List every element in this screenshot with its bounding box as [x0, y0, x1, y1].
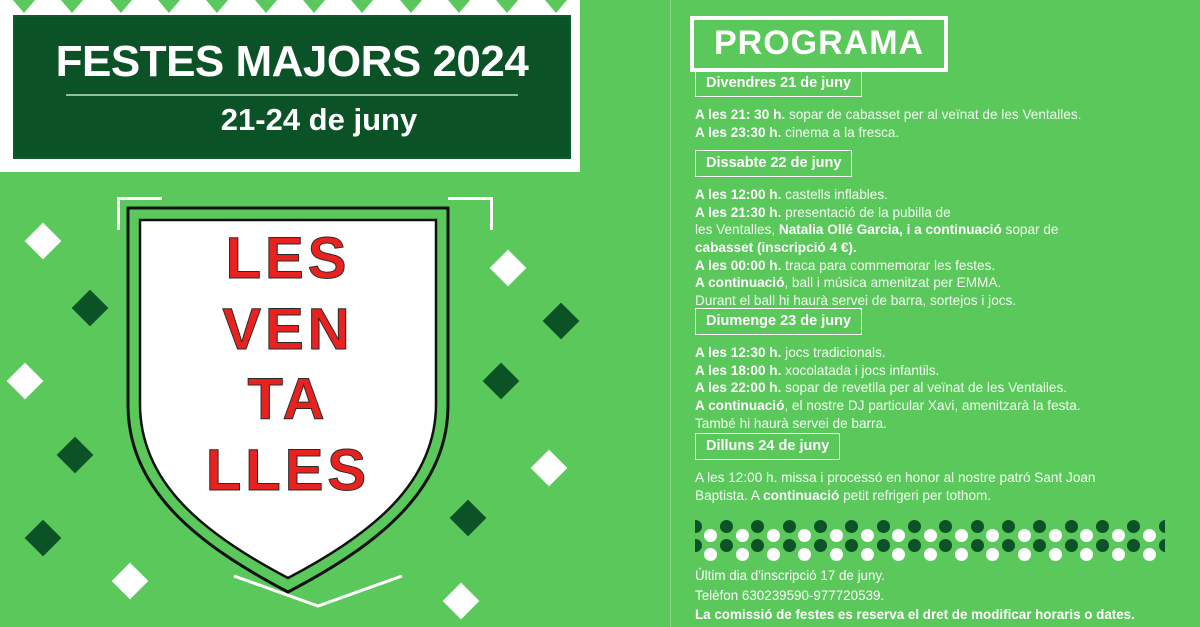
- event-text-strong: A continuació: [695, 275, 784, 290]
- pattern-dot-light: [861, 529, 874, 542]
- scallop-notch-icon: [400, 0, 422, 13]
- scallop-notch-icon: [303, 0, 325, 13]
- event-text: , el nostre DJ particular Xavi, amenitza…: [784, 398, 1080, 413]
- program-day-block: Divendres 21 de junyA les 21: 30 h. sopa…: [695, 70, 1165, 141]
- pattern-dot-dark: [783, 520, 796, 533]
- event-text: Baptista. A: [695, 488, 763, 503]
- event-text: sopar de cabasset per al veïnat de les V…: [785, 107, 1081, 122]
- pattern-dot-dark: [1002, 520, 1015, 533]
- event-line: A continuació, ball i música amenitzat p…: [695, 274, 1165, 292]
- event-text-strong: A les 12:00 h.: [695, 187, 781, 202]
- pattern-dot-dark: [814, 520, 827, 533]
- event-text-strong: A les 22:00 h.: [695, 380, 781, 395]
- footer-line: La comissió de festes es reserva el dret…: [695, 605, 1175, 625]
- pattern-dot-dark: [1033, 520, 1046, 533]
- scallop-notch-icon: [158, 0, 180, 13]
- pattern-dot-light: [736, 529, 749, 542]
- pattern-dot-light: [1143, 548, 1156, 561]
- event-line: les Ventalles, Natalia Ollé Garcia, i a …: [695, 221, 1165, 239]
- pattern-dot-light: [924, 529, 937, 542]
- pattern-dot-light: [798, 548, 811, 561]
- pattern-dot-light: [955, 548, 968, 561]
- event-text: cinema a la fresca.: [781, 125, 899, 140]
- crest-letters: LES VEN TA LLES: [118, 200, 458, 600]
- right-panel: PROGRAMA Divendres 21 de junyA les 21: 3…: [671, 0, 1200, 627]
- pattern-dot-dark: [845, 539, 858, 552]
- pattern-dot-light: [767, 529, 780, 542]
- event-text: castells inflables.: [781, 187, 888, 202]
- pattern-dot-dark: [908, 520, 921, 533]
- pattern-dot-dark: [814, 539, 827, 552]
- footer-notes: Últim dia d'inscripció 17 de juny.Telèfo…: [695, 566, 1175, 625]
- pattern-dot-light: [704, 529, 717, 542]
- pattern-dot-dark: [877, 520, 890, 533]
- pattern-dot-dark: [1159, 539, 1166, 552]
- festival-poster: FESTES MAJORS 2024 21-24 de juny LES VEN…: [0, 0, 1200, 627]
- pattern-dot-light: [861, 548, 874, 561]
- pattern-dot-light: [704, 548, 717, 561]
- crest-line-4: LLES: [206, 440, 370, 503]
- event-text-strong: cabasset (inscripció 4 €).: [695, 240, 857, 255]
- scallop-notch-icon: [496, 0, 518, 13]
- event-line: També hi haurà servei de barra.: [695, 415, 1165, 433]
- scallop-notch-icon: [110, 0, 132, 13]
- scallop-notch-icon: [545, 0, 567, 13]
- day-chip: Diumenge 23 de juny: [695, 308, 862, 335]
- day-chip: Dilluns 24 de juny: [695, 433, 840, 460]
- pattern-dot-light: [767, 548, 780, 561]
- diamond-decoration-icon: [25, 223, 62, 260]
- footer-line: Telèfon 630239590-977720539.: [695, 586, 1175, 606]
- scallop-notch-icon: [13, 0, 35, 13]
- event-line: A les 00:00 h. traca para commemorar les…: [695, 257, 1165, 275]
- page-title: FESTES MAJORS 2024: [56, 40, 529, 84]
- diamond-decoration-icon: [483, 363, 520, 400]
- chevron-accent-icon: [228, 572, 408, 612]
- event-text-strong: Natalia Ollé Garcia, i a continuació: [779, 222, 1002, 237]
- scallop-notch-icon: [255, 0, 277, 13]
- diamond-decoration-icon: [25, 520, 62, 557]
- pattern-dot-dark: [751, 520, 764, 533]
- event-text: sopar de revetlla per al veïnat de les V…: [781, 380, 1067, 395]
- diamond-decoration-icon: [7, 363, 44, 400]
- event-text-strong: A les 18:00 h.: [695, 363, 781, 378]
- event-text-strong: continuació: [763, 488, 839, 503]
- diamond-decoration-icon: [72, 290, 109, 327]
- programa-heading-box: PROGRAMA: [690, 16, 948, 72]
- scallop-notch-icon: [206, 0, 228, 13]
- diamond-decoration-icon: [531, 450, 568, 487]
- day-event-lines: A les 12:30 h. jocs tradicionals.A les 1…: [695, 344, 1165, 432]
- event-text-strong: A les 21: 30 h.: [695, 107, 785, 122]
- day-chip: Dissabte 22 de juny: [695, 150, 852, 177]
- event-text: sopar de: [1002, 222, 1059, 237]
- pattern-dot-light: [1080, 548, 1093, 561]
- programa-heading: PROGRAMA: [714, 26, 924, 60]
- day-event-lines: A les 21: 30 h. sopar de cabasset per al…: [695, 106, 1165, 141]
- pattern-dot-dark: [845, 520, 858, 533]
- event-text: xocolatada i jocs infantils.: [781, 363, 939, 378]
- pattern-dot-light: [924, 548, 937, 561]
- program-day-block: Dilluns 24 de junyA les 12:00 h. missa i…: [695, 433, 1165, 504]
- header-white-band: FESTES MAJORS 2024 21-24 de juny: [0, 0, 580, 172]
- pattern-dot-light: [986, 529, 999, 542]
- title-divider-rule: [66, 94, 518, 96]
- pattern-dot-dark: [971, 520, 984, 533]
- pattern-dot-dark: [1033, 539, 1046, 552]
- event-text: A les 12:00 h. missa i processó en honor…: [695, 470, 1096, 485]
- event-text-strong: A les 12:30 h.: [695, 345, 781, 360]
- pattern-dot-dark: [1127, 539, 1140, 552]
- event-text-strong: A les 00:00 h.: [695, 258, 781, 273]
- pattern-dot-light: [1018, 529, 1031, 542]
- crest-line-2: VEN: [222, 299, 353, 362]
- pattern-dot-light: [892, 548, 905, 561]
- pattern-dot-light: [892, 529, 905, 542]
- event-text: , ball i música amenitzat per EMMA.: [784, 275, 1001, 290]
- title-banner: FESTES MAJORS 2024 21-24 de juny: [13, 15, 571, 159]
- pattern-dot-light: [830, 548, 843, 561]
- event-text: presentació de la pubilla de: [781, 205, 950, 220]
- title-subtitle: 21-24 de juny: [167, 104, 417, 135]
- event-text: les Ventalles,: [695, 222, 779, 237]
- pattern-dot-dark: [1096, 520, 1109, 533]
- pattern-dot-dark: [877, 539, 890, 552]
- event-text: Durant el ball hi haurà servei de barra,…: [695, 293, 1016, 308]
- scallop-notch-icon: [448, 0, 470, 13]
- pattern-dot-dark: [695, 539, 702, 552]
- pattern-dot-dark: [695, 520, 702, 533]
- event-line: A les 22:00 h. sopar de revetlla per al …: [695, 379, 1165, 397]
- crest-line-3: TA: [247, 369, 328, 432]
- pattern-dot-light: [1112, 548, 1125, 561]
- pattern-dot-dark: [783, 539, 796, 552]
- day-event-lines: A les 12:00 h. castells inflables.A les …: [695, 186, 1165, 310]
- pattern-dot-dark: [971, 539, 984, 552]
- footer-text: Últim dia d'inscripció 17 de juny.: [695, 568, 885, 583]
- event-line: A les 12:00 h. castells inflables.: [695, 186, 1165, 204]
- left-panel: FESTES MAJORS 2024 21-24 de juny LES VEN…: [0, 0, 670, 627]
- pattern-dot-light: [798, 529, 811, 542]
- pattern-dot-light: [1049, 548, 1062, 561]
- event-text: jocs tradicionals.: [781, 345, 885, 360]
- event-line: A les 21: 30 h. sopar de cabasset per al…: [695, 106, 1165, 124]
- event-line: cabasset (inscripció 4 €).: [695, 239, 1165, 257]
- event-text: traca para commemorar les festes.: [781, 258, 995, 273]
- event-line: A les 12:30 h. jocs tradicionals.: [695, 344, 1165, 362]
- day-event-lines: A les 12:00 h. missa i processó en honor…: [695, 469, 1165, 504]
- pattern-dot-light: [955, 529, 968, 542]
- pattern-dot-dark: [908, 539, 921, 552]
- pattern-dot-light: [1143, 529, 1156, 542]
- pattern-dot-light: [830, 529, 843, 542]
- diamond-decoration-icon: [543, 303, 580, 340]
- event-text: petit refrigeri per tothom.: [839, 488, 991, 503]
- pattern-dot-dark: [939, 539, 952, 552]
- pattern-dot-dark: [1065, 539, 1078, 552]
- pattern-dot-dark: [1127, 520, 1140, 533]
- pattern-dot-dark: [720, 539, 733, 552]
- event-text-strong: A les 23:30 h.: [695, 125, 781, 140]
- pattern-dot-light: [1080, 529, 1093, 542]
- event-line: A les 23:30 h. cinema a la fresca.: [695, 124, 1165, 142]
- diamond-decoration-icon: [57, 437, 94, 474]
- pattern-dot-light: [1018, 548, 1031, 561]
- pattern-dot-light: [986, 548, 999, 561]
- pattern-dot-light: [1112, 529, 1125, 542]
- event-line: Baptista. A continuació petit refrigeri …: [695, 487, 1165, 505]
- program-day-block: Dissabte 22 de junyA les 12:00 h. castel…: [695, 150, 1165, 310]
- event-line: A les 12:00 h. missa i processó en honor…: [695, 469, 1165, 487]
- event-line: A continuació, el nostre DJ particular X…: [695, 397, 1165, 415]
- pattern-dot-dark: [1002, 539, 1015, 552]
- pattern-dot-light: [1049, 529, 1062, 542]
- pattern-dot-dark: [939, 520, 952, 533]
- day-chip: Divendres 21 de juny: [695, 70, 862, 97]
- footer-line: Últim dia d'inscripció 17 de juny.: [695, 566, 1175, 586]
- dot-pattern-band: [695, 519, 1165, 563]
- pattern-dot-dark: [751, 539, 764, 552]
- footer-text-strong: La comissió de festes es reserva el dret…: [695, 607, 1135, 622]
- scallop-notch-icon: [351, 0, 373, 13]
- pattern-dot-light: [736, 548, 749, 561]
- crest-shield: LES VEN TA LLES: [118, 200, 458, 600]
- event-text-strong: A les 21:30 h.: [695, 205, 781, 220]
- crest-line-1: LES: [226, 228, 351, 291]
- event-line: A les 21:30 h. presentació de la pubilla…: [695, 204, 1165, 222]
- diamond-decoration-icon: [490, 250, 527, 287]
- pattern-dot-dark: [1096, 539, 1109, 552]
- scallop-notch-icon: [61, 0, 83, 13]
- pattern-dot-dark: [1159, 520, 1166, 533]
- scalloped-notch-row: [0, 0, 580, 13]
- pattern-dot-dark: [1065, 520, 1078, 533]
- event-text: També hi haurà servei de barra.: [695, 416, 887, 431]
- event-text-strong: A continuació: [695, 398, 784, 413]
- event-line: A les 18:00 h. xocolatada i jocs infanti…: [695, 362, 1165, 380]
- program-day-block: Diumenge 23 de junyA les 12:30 h. jocs t…: [695, 308, 1165, 432]
- footer-text: Telèfon 630239590-977720539.: [695, 588, 884, 603]
- pattern-dot-dark: [720, 520, 733, 533]
